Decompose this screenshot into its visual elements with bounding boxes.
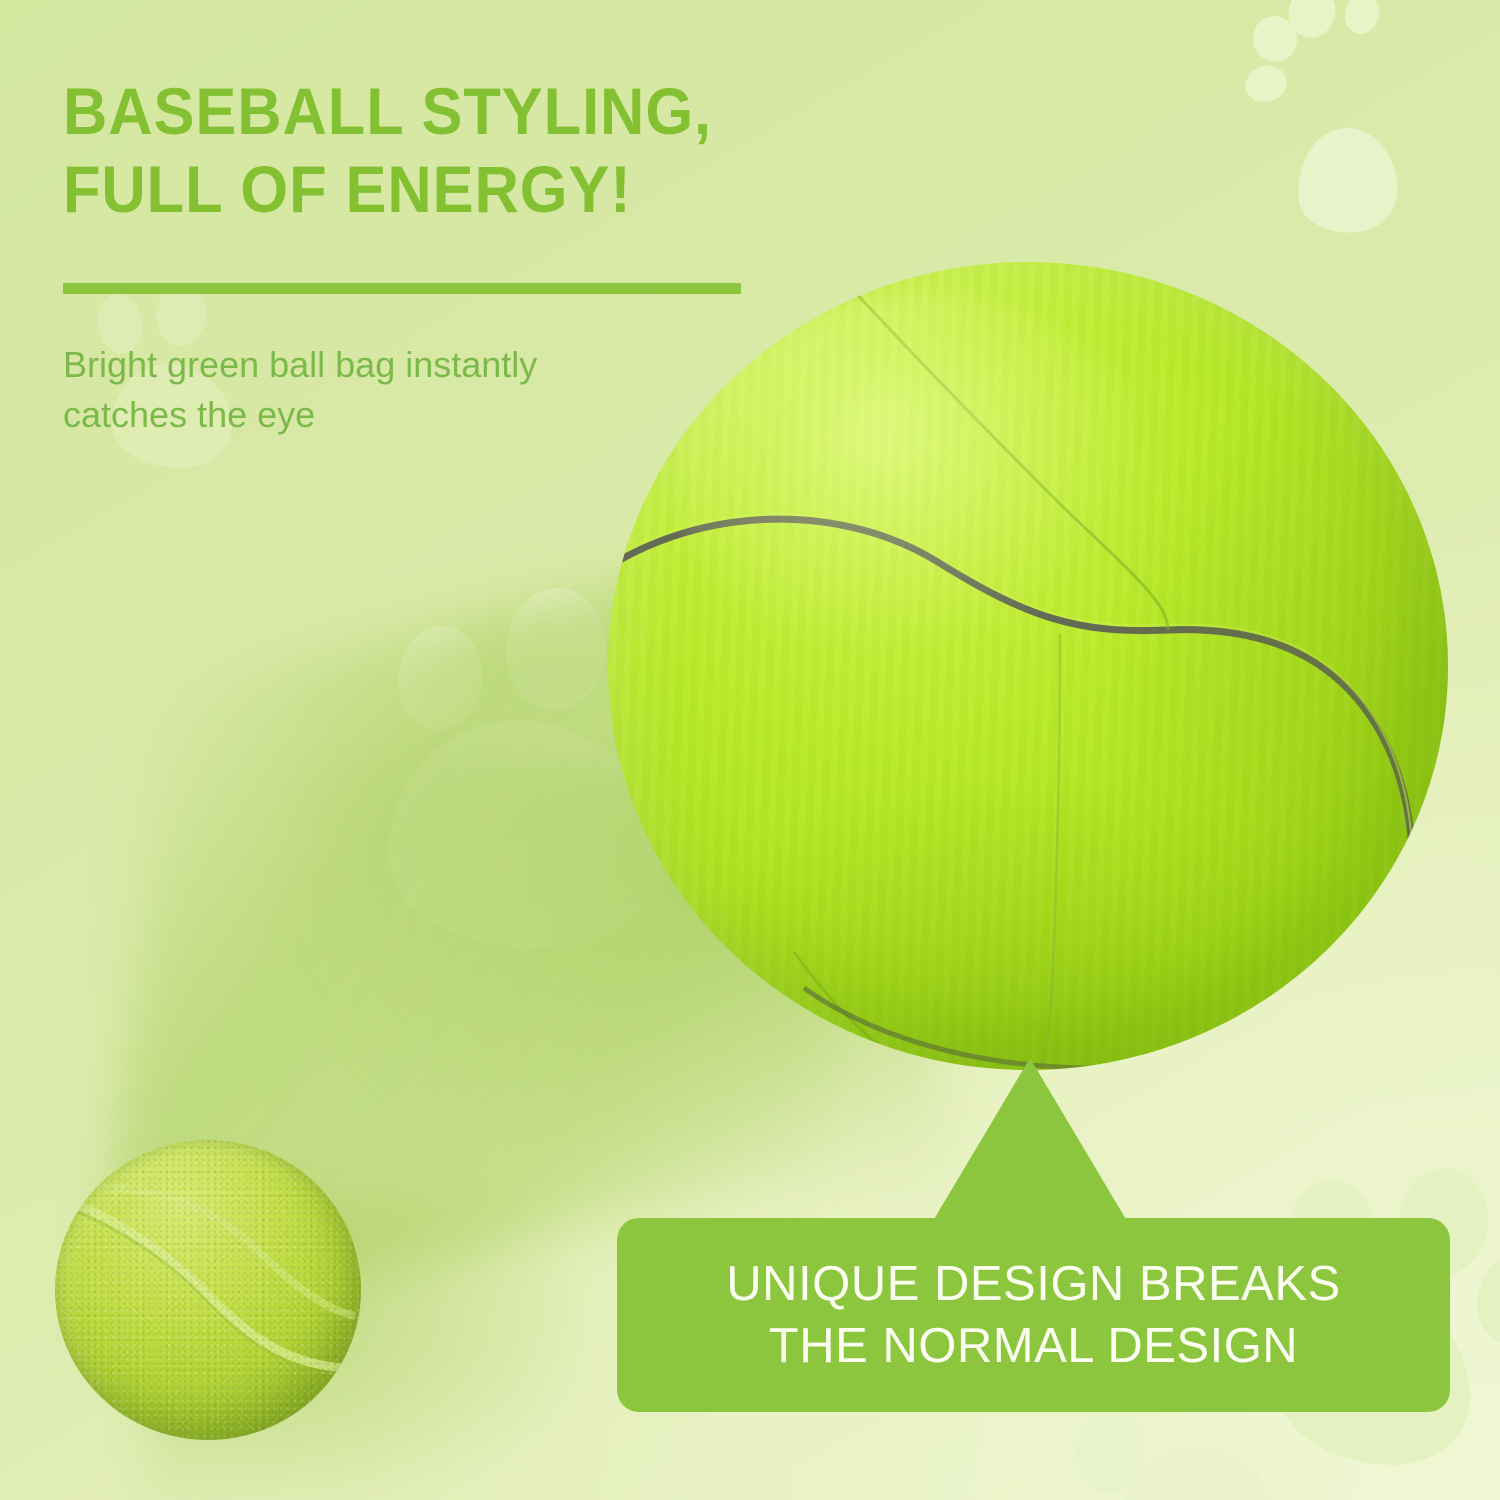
ball-highlight [675,294,1162,666]
paw-toe [1076,1410,1146,1494]
product-feature-image: BASEBALL STYLING, FULL OF ENERGY! Bright… [0,0,1500,1500]
headline-line-2: FULL OF ENERGY! [63,150,826,228]
ball-shading-bottom [608,795,1448,1070]
title-divider [63,283,741,294]
large-ball-product-image [608,262,1448,1070]
caption-line-2: THE NORMAL DESIGN [769,1315,1298,1377]
caption-line-1: UNIQUE DESIGN BREAKS [726,1253,1340,1315]
triangle-pointer-icon [930,1058,1130,1228]
subtitle-line-2: catches the eye [63,390,723,440]
paw-print-icon [1060,1400,1300,1500]
paw-toe [1341,0,1384,38]
felt-edge-shading [55,1140,361,1440]
page-title: BASEBALL STYLING, FULL OF ENERGY! [63,72,883,228]
subtitle-line-1: Bright green ball bag instantly [63,340,723,390]
headline-line-1: BASEBALL STYLING, [63,72,826,150]
paw-print-icon [1205,0,1500,288]
caption-banner: UNIQUE DESIGN BREAKS THE NORMAL DESIGN [617,1218,1450,1412]
paw-pad [1292,123,1402,238]
small-tennis-ball-image [55,1140,361,1440]
subtitle: Bright green ball bag instantly catches … [63,340,723,440]
paw-toe [1240,60,1292,108]
